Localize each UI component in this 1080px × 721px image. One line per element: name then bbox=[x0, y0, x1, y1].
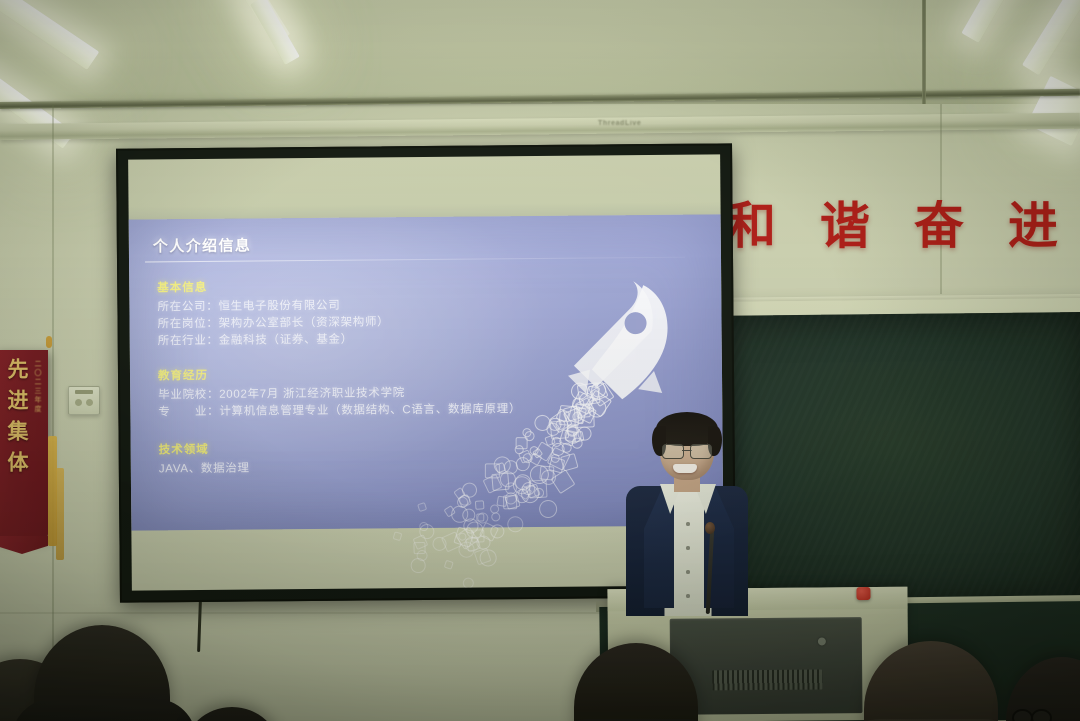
trail-icon bbox=[577, 426, 593, 442]
trail-icon bbox=[550, 435, 563, 448]
trail-icon bbox=[458, 532, 467, 541]
trail-icon bbox=[540, 466, 555, 481]
trail-icon bbox=[574, 408, 594, 428]
trail-icon bbox=[489, 503, 501, 515]
shirt-button bbox=[686, 570, 690, 574]
section-heading: 基本信息 bbox=[157, 278, 389, 296]
trail-icon bbox=[528, 480, 547, 499]
trail-icon bbox=[576, 403, 591, 418]
trail-icon bbox=[555, 419, 567, 431]
slide-title: 个人介绍信息 bbox=[153, 235, 252, 257]
trail-icon bbox=[589, 381, 607, 399]
wall-slogan: 和谐奋进 bbox=[726, 186, 1060, 258]
trail-icon bbox=[528, 444, 541, 457]
trail-icon bbox=[586, 386, 600, 400]
trail-icon bbox=[457, 540, 478, 561]
trail-icon bbox=[534, 441, 554, 461]
ceiling bbox=[0, 0, 1080, 104]
trail-icon bbox=[514, 473, 533, 492]
trail-icon bbox=[544, 435, 556, 447]
trail-icon bbox=[514, 488, 530, 504]
trail-icon bbox=[561, 442, 573, 454]
trail-icon bbox=[458, 494, 471, 507]
trail-icon bbox=[520, 484, 539, 503]
trail-icon bbox=[475, 534, 492, 551]
trail-icon bbox=[503, 495, 517, 509]
trail-icon bbox=[413, 542, 425, 554]
trail-icon bbox=[569, 380, 591, 402]
trail-icon bbox=[418, 522, 437, 541]
trail-icon bbox=[497, 468, 519, 490]
trail-icon bbox=[479, 522, 500, 543]
trail-icon bbox=[522, 452, 535, 465]
slogan-character: 进 bbox=[1008, 186, 1060, 258]
trail-icon bbox=[471, 530, 484, 543]
trail-icon bbox=[588, 381, 609, 402]
section-line: 所在岗位：架构办公室部长（资深架构师） bbox=[157, 315, 389, 334]
trail-icon bbox=[465, 537, 481, 553]
trail-icon bbox=[571, 396, 586, 411]
trail-icon bbox=[563, 424, 584, 445]
section-heading: 教育经历 bbox=[158, 365, 521, 384]
trail-icon bbox=[573, 431, 585, 443]
trail-icon bbox=[412, 534, 428, 550]
trail-icon bbox=[441, 532, 462, 553]
pennant-sub-text: 二〇二三年度 bbox=[32, 360, 42, 414]
trail-icon bbox=[532, 486, 546, 500]
trail-icon bbox=[510, 473, 534, 497]
wall-power-socket[interactable] bbox=[68, 386, 100, 415]
trail-icon bbox=[566, 425, 578, 437]
eyeglasses-icon bbox=[1012, 709, 1052, 721]
slide-section-tech: 技术领域 JAVA、数据治理 bbox=[159, 441, 250, 479]
shirt-button bbox=[686, 594, 690, 598]
trail-icon bbox=[474, 548, 492, 566]
trail-icon bbox=[514, 444, 524, 454]
trail-icon bbox=[503, 490, 519, 506]
trail-icon bbox=[559, 429, 576, 446]
trail-icon bbox=[497, 496, 508, 507]
trail-icon bbox=[577, 404, 597, 424]
trail-icon bbox=[590, 382, 615, 407]
trail-icon bbox=[463, 577, 475, 589]
conduit-drop bbox=[922, 0, 926, 104]
trail-icon bbox=[515, 437, 527, 449]
trail-icon bbox=[485, 463, 500, 478]
presenter-mouth bbox=[673, 464, 697, 473]
trail-icon bbox=[444, 559, 455, 570]
trail-icon bbox=[417, 502, 427, 512]
trail-icon bbox=[459, 480, 479, 500]
trail-icon bbox=[489, 524, 506, 541]
trail-icon bbox=[563, 405, 580, 422]
slide-section-education: 教育经历 毕业院校：2002年7月 浙江经济职业技术学院 专 业：计算机信息管理… bbox=[158, 365, 521, 422]
trail-icon bbox=[558, 405, 580, 427]
shirt-button bbox=[686, 522, 690, 526]
section-heading: 技术领域 bbox=[159, 441, 250, 458]
trail-icon bbox=[444, 505, 457, 518]
trail-icon bbox=[503, 480, 519, 496]
trail-icon bbox=[564, 421, 580, 437]
trail-icon bbox=[475, 500, 485, 510]
trail-icon bbox=[532, 448, 544, 460]
trail-icon bbox=[570, 436, 585, 451]
ventilation-grille bbox=[712, 669, 822, 690]
trail-icon bbox=[551, 470, 575, 494]
trail-icon bbox=[505, 494, 521, 510]
trail-icon bbox=[571, 410, 583, 422]
trail-icon bbox=[483, 474, 503, 494]
trail-icon bbox=[549, 410, 573, 434]
section-line: 所在公司：恒生电子股份有限公司 bbox=[157, 298, 389, 317]
trail-icon bbox=[575, 397, 596, 418]
trail-icon bbox=[572, 390, 596, 414]
trail-icon bbox=[538, 467, 559, 488]
panel-knob[interactable] bbox=[818, 637, 826, 645]
trail-icon bbox=[491, 512, 501, 522]
blackboard-surface bbox=[703, 312, 1080, 604]
trail-icon bbox=[518, 449, 532, 463]
slogan-character: 和 bbox=[726, 186, 778, 258]
trail-icon bbox=[455, 526, 478, 549]
trail-icon bbox=[567, 405, 586, 424]
trail-icon bbox=[549, 441, 567, 459]
trail-icon bbox=[451, 505, 469, 523]
slogan-character: 奋 bbox=[914, 186, 966, 258]
equipment-panel[interactable] bbox=[670, 617, 863, 715]
trail-icon bbox=[453, 487, 466, 500]
section-line: 专 业：计算机信息管理专业（数据结构、C语言、数据库原理） bbox=[158, 401, 521, 421]
trail-icon bbox=[462, 534, 481, 553]
red-power-button[interactable] bbox=[856, 587, 870, 600]
shirt-button bbox=[686, 546, 690, 550]
trail-icon bbox=[550, 454, 560, 464]
trail-icon bbox=[410, 558, 426, 574]
trail-icon bbox=[419, 522, 428, 531]
pennant-tassel bbox=[56, 468, 64, 560]
trail-icon bbox=[453, 526, 475, 548]
trail-icon bbox=[522, 427, 533, 438]
trail-icon bbox=[504, 460, 518, 474]
trail-icon bbox=[532, 412, 552, 432]
trail-icon bbox=[461, 516, 481, 536]
trail-icon bbox=[521, 481, 537, 497]
trail-icon bbox=[529, 453, 542, 466]
trail-icon bbox=[431, 535, 448, 552]
trail-icon bbox=[392, 531, 402, 541]
trail-icon bbox=[515, 457, 530, 472]
eyeglasses-icon bbox=[662, 444, 712, 457]
trail-icon bbox=[528, 463, 551, 486]
trail-icon bbox=[460, 507, 478, 525]
pennant-main-text: 先进集体 bbox=[2, 358, 32, 482]
trail-icon bbox=[536, 497, 560, 521]
trail-icon bbox=[415, 549, 429, 563]
trail-icon bbox=[456, 495, 470, 509]
trail-icon bbox=[547, 447, 571, 471]
slide-section-basic: 基本信息 所在公司：恒生电子股份有限公司 所在岗位：架构办公室部长（资深架构师）… bbox=[157, 278, 389, 351]
trail-icon bbox=[524, 431, 535, 442]
trail-icon bbox=[526, 483, 542, 499]
trail-icon bbox=[563, 407, 584, 428]
trail-icon bbox=[517, 485, 533, 501]
section-line: 所在行业：金融科技（证券、基金） bbox=[158, 332, 390, 351]
trail-icon bbox=[478, 548, 497, 567]
screen-brand-plate: ThreadLive bbox=[598, 120, 641, 127]
trail-icon bbox=[564, 430, 577, 443]
award-pennant: 先进集体 二〇二三年度 bbox=[0, 350, 48, 540]
presenter bbox=[616, 404, 756, 614]
trail-icon bbox=[457, 494, 471, 508]
trail-icon bbox=[506, 515, 525, 534]
trail-icon bbox=[550, 420, 570, 440]
trail-icon bbox=[495, 462, 506, 473]
trail-icon bbox=[548, 456, 565, 473]
slide-title-divider bbox=[145, 257, 685, 263]
trail-icon bbox=[584, 389, 612, 417]
trail-icon bbox=[491, 453, 514, 476]
classroom-photo-scene: ThreadLive 先进集体 二〇二三年度 和谐奋进 个人介绍信息 基本信息 bbox=[0, 0, 1080, 721]
trail-icon bbox=[578, 392, 593, 407]
trail-icon bbox=[463, 519, 485, 541]
slogan-character: 谐 bbox=[820, 186, 872, 258]
trail-icon bbox=[546, 423, 560, 437]
trail-icon bbox=[584, 396, 609, 421]
trail-icon bbox=[576, 382, 600, 406]
trail-icon bbox=[560, 453, 578, 471]
trail-icon bbox=[477, 511, 490, 524]
trail-icon bbox=[556, 408, 570, 422]
microphone-head bbox=[705, 522, 715, 534]
trail-icon bbox=[476, 514, 484, 522]
trail-icon bbox=[491, 473, 510, 492]
wall-seam bbox=[52, 104, 54, 721]
pennant-rod bbox=[46, 336, 52, 348]
trail-icon bbox=[548, 418, 561, 431]
section-line: JAVA、数据治理 bbox=[159, 461, 250, 479]
